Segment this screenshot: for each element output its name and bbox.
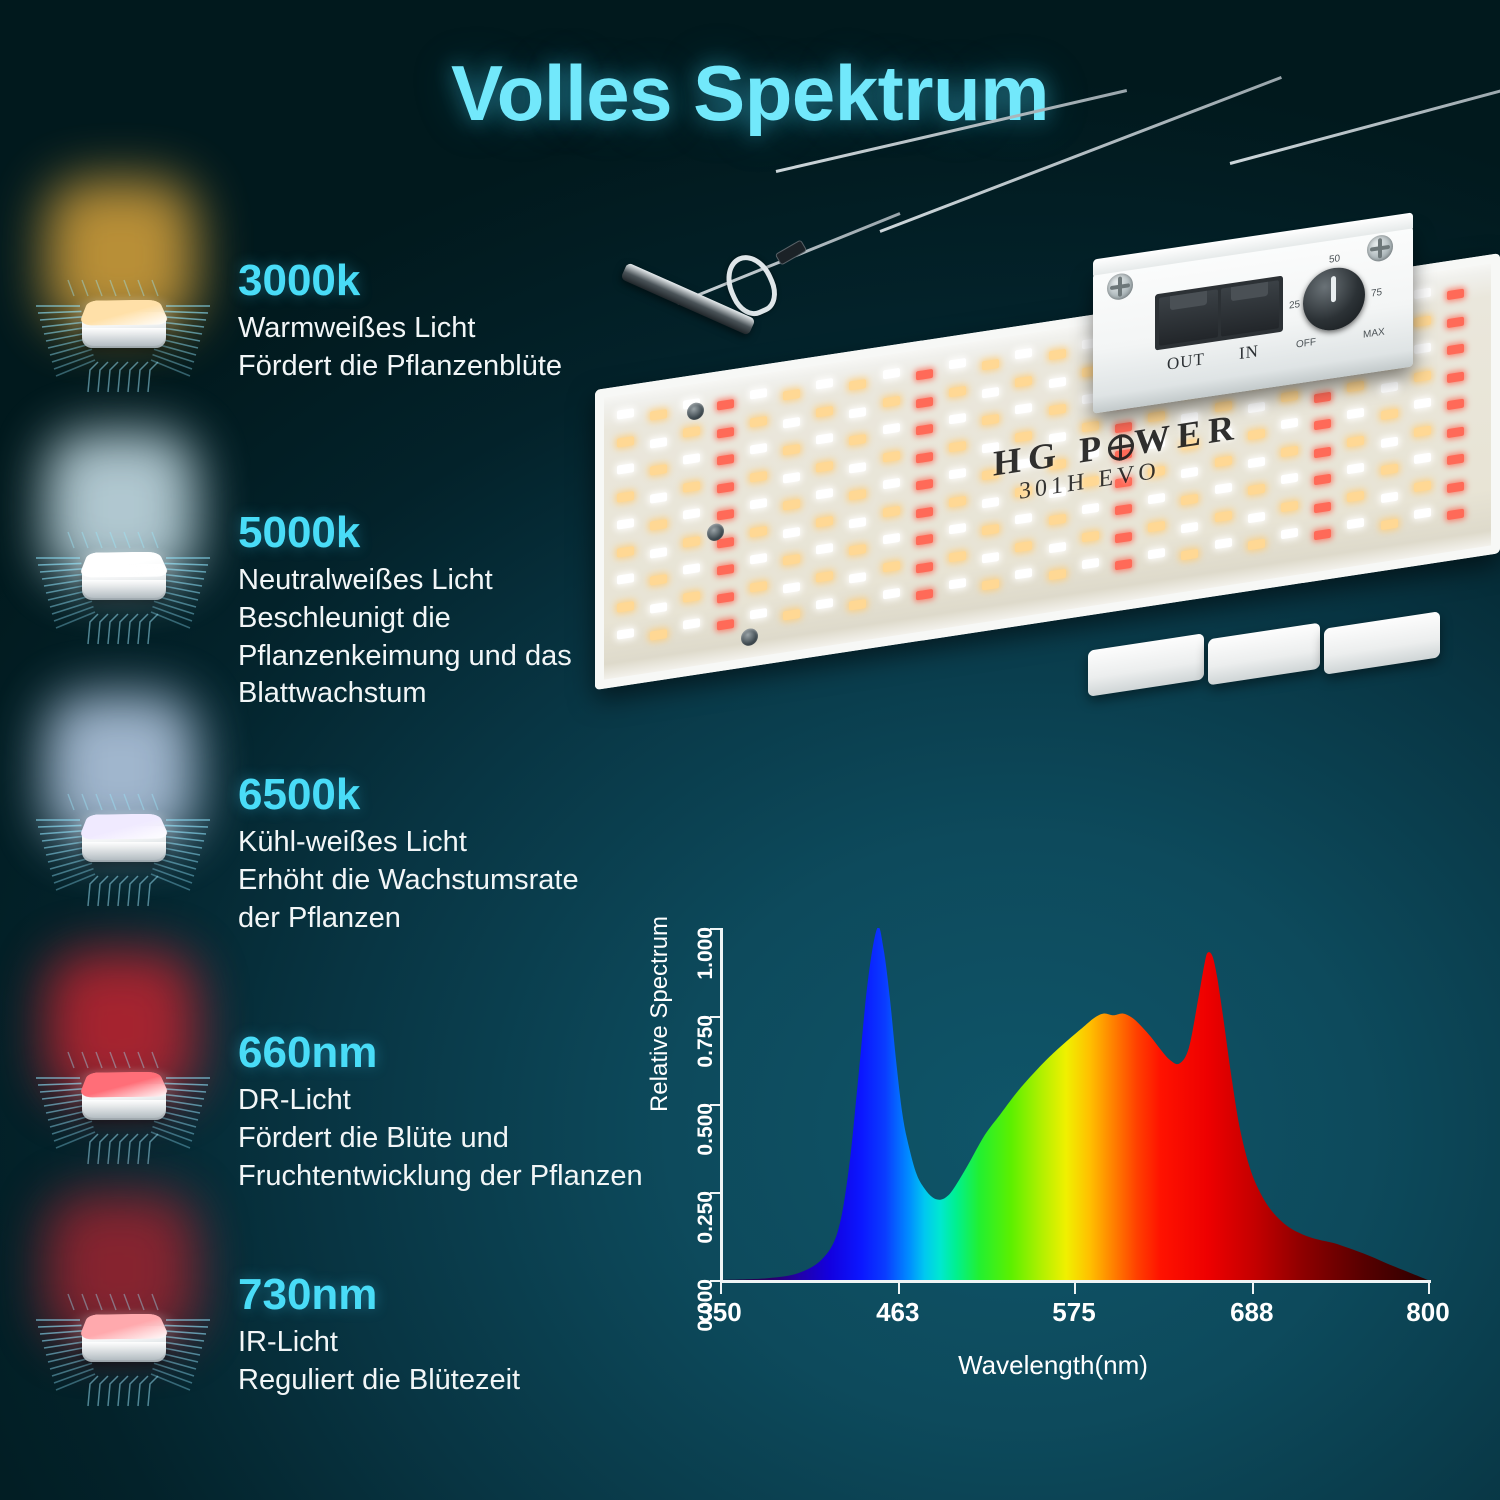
knob-tick-25: 25 — [1289, 299, 1300, 312]
led-diode — [1181, 411, 1198, 423]
led-diode — [1181, 521, 1198, 533]
led-diode — [816, 488, 833, 500]
led-diode — [1215, 538, 1232, 550]
led-diode — [717, 564, 734, 576]
mount-bar-left — [1088, 633, 1204, 697]
chart-x-tick — [1428, 1283, 1430, 1294]
mount-bar-mid — [1208, 623, 1320, 686]
spec-value: 6500k — [238, 772, 658, 818]
led-chip-cool-white-icon — [28, 772, 218, 922]
led-diode — [916, 451, 933, 463]
led-diode — [783, 499, 800, 511]
led-diode — [617, 408, 634, 420]
led-diode — [717, 399, 734, 411]
led-diode — [750, 443, 767, 455]
led-diode — [1049, 541, 1066, 553]
led-chip-warm-white-icon — [28, 258, 218, 408]
led-diode — [683, 591, 700, 603]
led-diode — [1215, 400, 1232, 412]
led-diode — [883, 423, 900, 435]
led-diode — [783, 389, 800, 401]
led-diode — [916, 506, 933, 518]
led-diode — [1314, 446, 1331, 458]
led-diode — [883, 505, 900, 517]
led-diode — [982, 524, 999, 536]
chart-plot-area — [720, 928, 1428, 1280]
led-diode — [617, 518, 634, 530]
led-diode — [1181, 466, 1198, 478]
led-diode — [849, 489, 866, 501]
chart-y-tick-label: 0.750 — [694, 1015, 718, 1071]
led-diode — [1248, 539, 1265, 551]
port-block — [1155, 276, 1283, 351]
led-diode — [1347, 490, 1364, 502]
led-diode — [1381, 464, 1398, 476]
led-diode — [949, 550, 966, 562]
led-diode — [1381, 436, 1398, 448]
led-diode — [1215, 455, 1232, 467]
led-diode — [1447, 481, 1464, 493]
led-diode — [783, 471, 800, 483]
chart-y-tick-label: 0.250 — [694, 1191, 718, 1247]
led-diode — [1148, 438, 1165, 450]
led-diode — [816, 460, 833, 472]
led-diode — [1381, 491, 1398, 503]
led-diode — [982, 496, 999, 508]
led-diode — [1148, 493, 1165, 505]
mount-bar-right — [1324, 611, 1440, 675]
led-diode — [1015, 430, 1032, 442]
led-diode — [849, 544, 866, 556]
led-diode — [982, 469, 999, 481]
led-diode — [1181, 549, 1198, 561]
led-diode — [1115, 421, 1132, 433]
led-diode — [1314, 391, 1331, 403]
led-diode — [617, 573, 634, 585]
led-diode — [816, 405, 833, 417]
led-diode — [816, 433, 833, 445]
led-diode — [982, 414, 999, 426]
led-diode — [849, 599, 866, 611]
led-diode — [1314, 419, 1331, 431]
led-diode — [1314, 501, 1331, 513]
spec-value: 660nm — [238, 1030, 658, 1076]
led-diode — [617, 546, 634, 558]
led-diode — [1015, 348, 1032, 360]
led-diode — [650, 629, 667, 641]
led-diode — [617, 628, 634, 640]
led-diode — [1015, 485, 1032, 497]
led-diode — [816, 598, 833, 610]
led-diode — [683, 426, 700, 438]
led-diode — [1049, 569, 1066, 581]
led-diode — [1248, 429, 1265, 441]
led-diode — [1181, 439, 1198, 451]
led-diode — [1049, 376, 1066, 388]
led-diode — [1082, 448, 1099, 460]
led-diode — [949, 413, 966, 425]
chip-front — [82, 1342, 166, 1362]
led-diode — [883, 533, 900, 545]
led-chip-body — [76, 540, 172, 610]
chart-y-tick-label: 1.000 — [694, 927, 718, 983]
led-diode — [750, 416, 767, 428]
led-diode — [650, 519, 667, 531]
chip-front — [82, 328, 166, 348]
led-diode — [816, 515, 833, 527]
led-diode — [1447, 509, 1464, 521]
chart-x-tick-label: 463 — [848, 1297, 948, 1328]
led-diode — [1314, 474, 1331, 486]
led-diode — [1115, 476, 1132, 488]
chart-x-tick — [898, 1283, 900, 1294]
led-diode — [916, 479, 933, 491]
led-diode — [1049, 431, 1066, 443]
spec-description-line: Reguliert die Blütezeit — [238, 1362, 658, 1400]
led-diode — [1148, 548, 1165, 560]
led-chip-body — [76, 1060, 172, 1130]
led-diode — [1414, 453, 1431, 465]
led-diode — [750, 608, 767, 620]
led-diode — [650, 574, 667, 586]
led-diode — [982, 579, 999, 591]
led-diode — [683, 453, 700, 465]
led-diode — [1215, 428, 1232, 440]
led-diode — [1414, 480, 1431, 492]
led-diode — [1281, 500, 1298, 512]
spectrum-chart: Relative Spectrum Wavelength(nm) 0.0000.… — [628, 880, 1478, 1460]
led-diode — [1447, 371, 1464, 383]
led-diode — [1248, 456, 1265, 468]
led-diode — [1447, 289, 1464, 301]
led-chip-deep-red-icon — [28, 1030, 218, 1180]
led-diode — [650, 437, 667, 449]
led-diode — [849, 461, 866, 473]
led-diode — [982, 441, 999, 453]
led-diode — [949, 440, 966, 452]
chart-x-tick-label: 575 — [1024, 1297, 1124, 1328]
led-diode — [849, 571, 866, 583]
led-diode — [717, 619, 734, 631]
led-chip-body — [76, 802, 172, 872]
led-diode — [1049, 404, 1066, 416]
chart-x-tick — [1074, 1283, 1076, 1294]
spec-description-line: IR-Licht — [238, 1324, 658, 1362]
port-in-label: IN — [1239, 341, 1259, 364]
led-diode — [949, 358, 966, 370]
spec-description-line: Kühl-weißes Licht — [238, 824, 658, 862]
led-diode — [683, 508, 700, 520]
led-diode — [1181, 494, 1198, 506]
led-diode — [849, 406, 866, 418]
led-diode — [1148, 520, 1165, 532]
led-chip-neutral-white-icon — [28, 510, 218, 660]
led-diode — [1381, 519, 1398, 531]
led-diode — [1215, 510, 1232, 522]
led-diode — [1414, 508, 1431, 520]
led-diode — [617, 601, 634, 613]
led-diode — [1082, 475, 1099, 487]
led-diode — [916, 396, 933, 408]
led-diode — [783, 526, 800, 538]
led-diode — [1414, 288, 1431, 300]
led-diode — [1082, 503, 1099, 515]
led-diode — [1347, 435, 1364, 447]
chart-x-axis-title: Wavelength(nm) — [628, 1350, 1478, 1381]
led-diode — [683, 481, 700, 493]
led-diode — [1281, 528, 1298, 540]
led-diode — [783, 581, 800, 593]
led-diode — [1347, 518, 1364, 530]
led-diode — [650, 547, 667, 559]
led-diode — [883, 395, 900, 407]
led-diode — [750, 581, 767, 593]
led-diode — [949, 578, 966, 590]
led-diode — [1015, 513, 1032, 525]
chart-x-tick-label: 688 — [1202, 1297, 1302, 1328]
led-diode — [783, 609, 800, 621]
led-diode — [1414, 398, 1431, 410]
led-diode — [1148, 410, 1165, 422]
led-diode — [916, 369, 933, 381]
knob-tick-75: 75 — [1371, 287, 1382, 300]
chip-emitter — [78, 1314, 170, 1340]
led-diode — [849, 434, 866, 446]
chart-x-tick — [1252, 1283, 1254, 1294]
dimmer-knob[interactable] — [1303, 263, 1365, 334]
led-diode — [1015, 540, 1032, 552]
chart-y-axis — [720, 928, 723, 1282]
spec-text: 6500kKühl-weißes LichtErhöht die Wachstu… — [238, 772, 658, 937]
chart-y-axis-title: Relative Spectrum — [646, 916, 674, 1112]
led-diode — [617, 436, 634, 448]
spec-text: 660nmDR-LichtFördert die Blüte undFrucht… — [238, 1030, 658, 1195]
led-diode — [1015, 458, 1032, 470]
led-diode — [650, 492, 667, 504]
led-diode — [916, 534, 933, 546]
knob-tick-max: MAX — [1363, 327, 1385, 341]
led-diode — [1115, 504, 1132, 516]
led-diode — [1281, 473, 1298, 485]
led-diode — [916, 589, 933, 601]
spec-description-line: Fruchtentwicklung der Pflanzen — [238, 1158, 658, 1196]
led-diode — [1015, 403, 1032, 415]
port-in[interactable] — [1221, 280, 1280, 337]
led-diode — [1381, 409, 1398, 421]
led-diode — [1381, 381, 1398, 393]
driver-screw-right — [1367, 233, 1393, 263]
led-diode — [1148, 465, 1165, 477]
led-diode — [750, 471, 767, 483]
led-diode — [1015, 568, 1032, 580]
led-diode — [982, 386, 999, 398]
led-diode — [883, 368, 900, 380]
spec-description-line: Fördert die Blüte und — [238, 1120, 658, 1158]
led-diode — [849, 516, 866, 528]
led-diode — [1447, 399, 1464, 411]
led-diode — [1414, 425, 1431, 437]
led-chip-body — [76, 1302, 172, 1372]
led-diode — [717, 509, 734, 521]
led-diode — [783, 444, 800, 456]
led-diode — [1414, 315, 1431, 327]
led-diode — [1115, 559, 1132, 571]
led-diode — [949, 385, 966, 397]
led-diode — [883, 450, 900, 462]
led-diode — [717, 482, 734, 494]
led-diode — [949, 495, 966, 507]
led-diode — [816, 570, 833, 582]
led-diode — [1115, 449, 1132, 461]
led-diode — [650, 464, 667, 476]
led-diode — [982, 551, 999, 563]
led-chip-body — [76, 288, 172, 358]
led-diode — [816, 543, 833, 555]
led-diode — [949, 468, 966, 480]
led-diode — [916, 424, 933, 436]
driver-screw-left — [1107, 272, 1133, 302]
led-diode — [617, 491, 634, 503]
product-photo: HG PWER 301H EVO OUT IN 50 25 75 OFF MAX — [540, 150, 1500, 750]
led-diode — [1447, 344, 1464, 356]
led-chip-infrared-icon — [28, 1272, 218, 1422]
led-diode — [683, 618, 700, 630]
led-diode — [1082, 420, 1099, 432]
led-diode — [783, 416, 800, 428]
infographic-root: Volles Spektrum 3000kWarmweißes LichtFör… — [0, 0, 1500, 1500]
led-diode — [783, 554, 800, 566]
led-diode — [1215, 483, 1232, 495]
led-diode — [816, 378, 833, 390]
chip-front — [82, 580, 166, 600]
spectrum-curve — [720, 928, 1428, 1280]
chip-emitter — [78, 1072, 170, 1098]
led-diode — [1049, 486, 1066, 498]
led-diode — [1049, 514, 1066, 526]
chart-x-tick-label: 800 — [1378, 1297, 1478, 1328]
led-diode — [849, 379, 866, 391]
led-diode — [750, 553, 767, 565]
led-diode — [982, 359, 999, 371]
port-out[interactable] — [1159, 289, 1218, 346]
chip-front — [82, 842, 166, 862]
chip-front — [82, 1100, 166, 1120]
led-diode — [1414, 370, 1431, 382]
led-diode — [1049, 349, 1066, 361]
led-diode — [1281, 445, 1298, 457]
led-diode — [650, 409, 667, 421]
led-diode — [1447, 454, 1464, 466]
led-diode — [1414, 343, 1431, 355]
led-diode — [916, 561, 933, 573]
led-diode — [1281, 390, 1298, 402]
knob-tick-off: OFF — [1296, 337, 1316, 351]
led-diode — [1015, 375, 1032, 387]
led-diode — [1082, 530, 1099, 542]
spec-description-line: der Pflanzen — [238, 900, 658, 938]
led-diode — [617, 463, 634, 475]
chip-emitter — [78, 552, 170, 578]
led-diode — [1082, 558, 1099, 570]
led-diode — [1115, 531, 1132, 543]
chart-y-tick-label: 0.500 — [694, 1103, 718, 1159]
led-diode — [750, 498, 767, 510]
chip-emitter — [78, 814, 170, 840]
chip-emitter — [78, 300, 170, 326]
led-diode — [1248, 484, 1265, 496]
led-diode — [1049, 459, 1066, 471]
led-diode — [883, 478, 900, 490]
chart-x-tick-label: 350 — [670, 1297, 770, 1328]
led-diode — [650, 602, 667, 614]
led-diode — [750, 388, 767, 400]
led-diode — [1347, 463, 1364, 475]
led-diode — [1248, 401, 1265, 413]
spec-value: 730nm — [238, 1272, 658, 1318]
led-diode — [683, 563, 700, 575]
led-diode — [949, 523, 966, 535]
knob-tick-50: 50 — [1329, 253, 1340, 266]
led-diode — [1347, 380, 1364, 392]
led-diode — [1447, 316, 1464, 328]
led-diode — [1281, 418, 1298, 430]
chart-x-tick — [720, 1283, 722, 1294]
led-diode — [883, 560, 900, 572]
led-diode — [717, 454, 734, 466]
led-diode — [717, 427, 734, 439]
cable-ferrule — [775, 239, 807, 265]
spec-text: 730nmIR-LichtReguliert die Blütezeit — [238, 1272, 658, 1400]
led-diode — [1447, 426, 1464, 438]
led-diode — [1248, 511, 1265, 523]
led-diode — [883, 588, 900, 600]
led-diode — [1314, 529, 1331, 541]
driver-box-top — [1093, 212, 1413, 275]
led-diode — [683, 536, 700, 548]
spec-description-line: Erhöht die Wachstumsrate — [238, 862, 658, 900]
led-diode — [750, 526, 767, 538]
spec-description-line: DR-Licht — [238, 1082, 658, 1120]
led-diode — [717, 592, 734, 604]
port-out-label: OUT — [1167, 349, 1205, 375]
led-diode — [1347, 408, 1364, 420]
